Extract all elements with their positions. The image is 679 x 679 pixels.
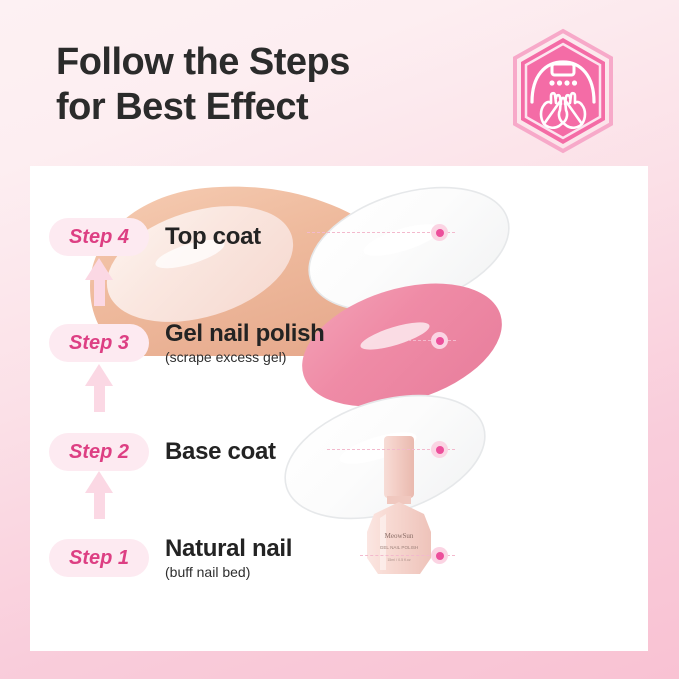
title-line-2: for Best Effect bbox=[56, 85, 486, 130]
step-title-2: Base coat bbox=[165, 439, 276, 465]
step-pill-1[interactable]: Step 1 bbox=[49, 539, 149, 577]
step-pill-2[interactable]: Step 2 bbox=[49, 433, 149, 471]
step-title-1: Natural nail bbox=[165, 536, 292, 562]
step-row-4: Step 4 Top coat bbox=[30, 210, 648, 264]
step-subtitle-3: (scrape excess gel) bbox=[165, 349, 325, 365]
page-title: Follow the Steps for Best Effect bbox=[56, 40, 486, 130]
connector-dot-1 bbox=[431, 547, 448, 564]
steps-card: MeowSun GEL NAIL POLISH 15ml / 0.5 fl.oz… bbox=[30, 166, 648, 651]
step-pill-3[interactable]: Step 3 bbox=[49, 324, 149, 362]
step-title-4: Top coat bbox=[165, 224, 261, 250]
connector-dot-4 bbox=[431, 224, 448, 241]
product-infographic: Follow the Steps for Best Effect bbox=[0, 0, 679, 679]
step-label-3: Gel nail polish (scrape excess gel) bbox=[165, 321, 325, 364]
step-label-4: Top coat bbox=[165, 224, 261, 250]
step-row-1: Step 1 Natural nail (buff nail bed) bbox=[30, 531, 648, 585]
step-label-1: Natural nail (buff nail bed) bbox=[165, 536, 292, 579]
step-pill-4[interactable]: Step 4 bbox=[49, 218, 149, 256]
step-subtitle-1: (buff nail bed) bbox=[165, 564, 292, 580]
connector-dot-3 bbox=[431, 332, 448, 349]
step-row-2: Step 2 Base coat bbox=[30, 425, 648, 479]
title-line-1: Follow the Steps bbox=[56, 40, 486, 85]
uv-nail-lamp-hands-hexagon-icon bbox=[504, 28, 622, 154]
step-row-3: Step 3 Gel nail polish (scrape excess ge… bbox=[30, 316, 648, 370]
connector-dot-2 bbox=[431, 441, 448, 458]
step-label-2: Base coat bbox=[165, 439, 276, 465]
step-title-3: Gel nail polish bbox=[165, 321, 325, 347]
